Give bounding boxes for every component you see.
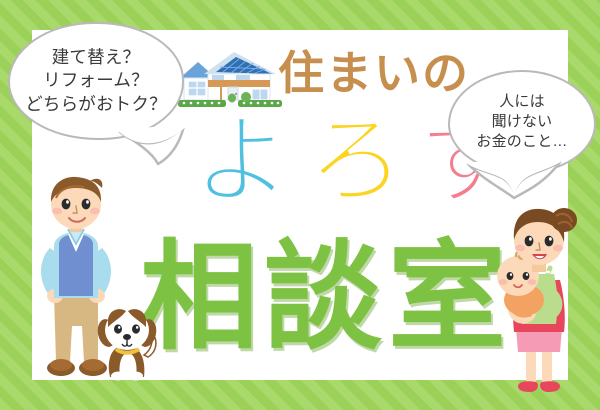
speech-bubble-right-text: 人には 聞けない お金のこと…: [476, 92, 567, 151]
mother-holding-baby-illustration: [480, 196, 584, 404]
banner-root: 住まいの よろず 相談室 建て替え？ リフォーム？ どちらがおトク？ 人には 聞…: [0, 0, 600, 410]
page-title-kicker: 住まいの: [278, 50, 470, 96]
speech-bubble-left-tail-icon: [118, 122, 194, 166]
dog-sitting-illustration: [96, 305, 160, 381]
page-title-subline: 相談室: [140, 238, 512, 356]
headline-char-1: よ: [193, 112, 307, 210]
speech-bubble-right-tail-icon: [466, 158, 562, 200]
speech-bubble-left-text: 建て替え？ リフォーム？ どちらがおトク？: [25, 46, 167, 115]
headline-char-2: ろ: [307, 112, 421, 210]
